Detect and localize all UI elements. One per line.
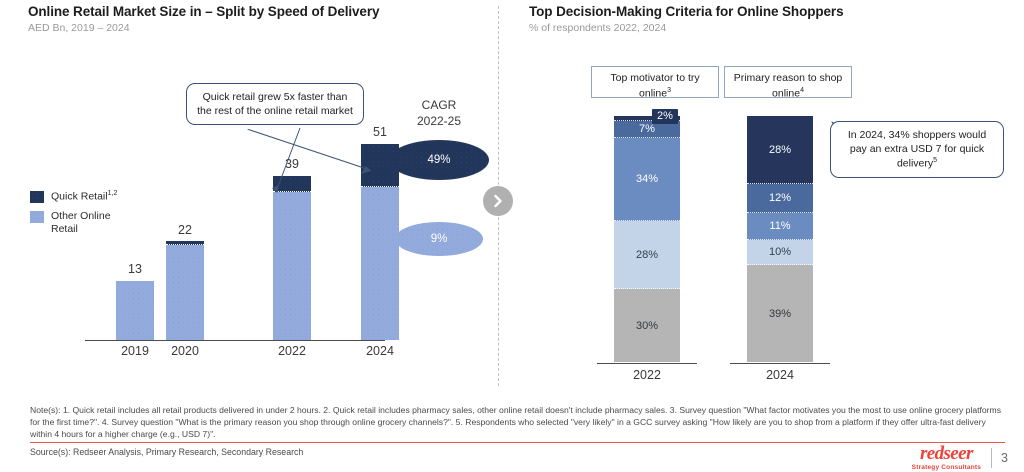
right-chart-panel: Top Decision-Making Criteria for Online … [500, 0, 1024, 400]
sources-line: Source(s): Redseer Analysis, Primary Res… [30, 447, 303, 457]
footer-divider-line [30, 442, 1005, 443]
page-number: 3 [1001, 451, 1008, 465]
footnotes: Note(s): 1. Quick retail includes all re… [30, 404, 1005, 441]
logo-wordmark: redseer [920, 444, 973, 463]
logo-tagline: Strategy Consultants [912, 464, 981, 471]
left-callout-box: Quick retail grew 5x faster than the res… [186, 83, 364, 125]
left-chart-panel: Online Retail Market Size in – Split by … [0, 0, 500, 400]
left-callout-leaders [0, 0, 500, 400]
redseer-logo: redseer Strategy Consultants 3 [912, 444, 1008, 471]
right-callout-text: In 2024, 34% shoppers would pay an extra… [848, 129, 986, 170]
right-callout-sup: 5 [933, 157, 937, 164]
slide: Online Retail Market Size in – Split by … [0, 0, 1024, 472]
right-callout-box: In 2024, 34% shoppers would pay an extra… [830, 121, 1004, 178]
logo-separator [991, 448, 992, 468]
right-callout-tail [500, 0, 1024, 400]
